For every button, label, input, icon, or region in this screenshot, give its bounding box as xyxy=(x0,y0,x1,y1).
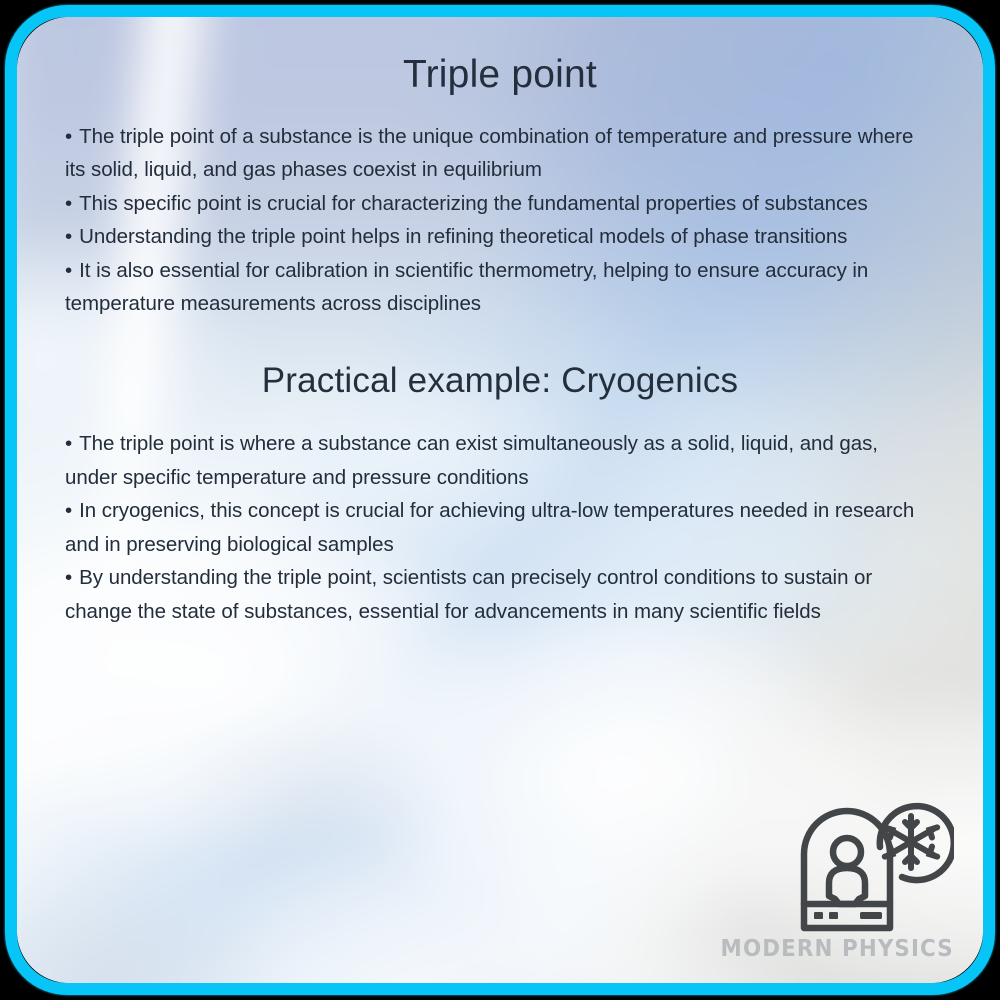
bullet-text: By understanding the triple point, scien… xyxy=(65,566,872,623)
person-body-icon xyxy=(829,868,865,904)
bullet-item: •By understanding the triple point, scie… xyxy=(65,561,935,628)
bullet-text: In cryogenics, this concept is crucial f… xyxy=(65,499,914,556)
bullet-item: •In cryogenics, this concept is crucial … xyxy=(65,494,935,561)
bullet-text: The triple point is where a substance ca… xyxy=(65,432,878,489)
logo-mark xyxy=(794,782,954,934)
pod-base-indicators-icon xyxy=(814,912,882,919)
bullet-item: •Understanding the triple point helps in… xyxy=(65,220,935,254)
section-two-bullet-list: •The triple point is where a substance c… xyxy=(65,427,935,628)
bullet-marker: • xyxy=(65,259,72,282)
brand-logo: MODERN PHYSICS xyxy=(703,782,954,962)
bullet-marker: • xyxy=(65,192,72,215)
bullet-item: •The triple point is where a substance c… xyxy=(65,427,935,494)
section-heading: Practical example: Cryogenics xyxy=(65,361,935,401)
bullet-marker: • xyxy=(65,432,72,455)
bullet-item: •This specific point is crucial for char… xyxy=(65,187,935,221)
bullet-text: Understanding the triple point helps in … xyxy=(79,225,847,248)
bullet-marker: • xyxy=(65,566,72,589)
bullet-item: •It is also essential for calibration in… xyxy=(65,254,935,321)
bullet-marker: • xyxy=(65,499,72,522)
page-title: Triple point xyxy=(65,53,935,98)
bullet-item: •The triple point of a substance is the … xyxy=(65,120,935,187)
bullet-text: It is also essential for calibration in … xyxy=(65,259,868,316)
slide-canvas: Triple point •The triple point of a subs… xyxy=(0,0,1000,1000)
bullet-text: The triple point of a substance is the u… xyxy=(65,125,913,182)
person-head-icon xyxy=(833,838,861,866)
bullet-text: This specific point is crucial for chara… xyxy=(79,192,868,215)
brand-name: MODERN PHYSICS xyxy=(721,936,954,962)
bullet-marker: • xyxy=(65,225,72,248)
bullet-marker: • xyxy=(65,125,72,148)
section-one-bullet-list: •The triple point of a substance is the … xyxy=(65,120,935,321)
